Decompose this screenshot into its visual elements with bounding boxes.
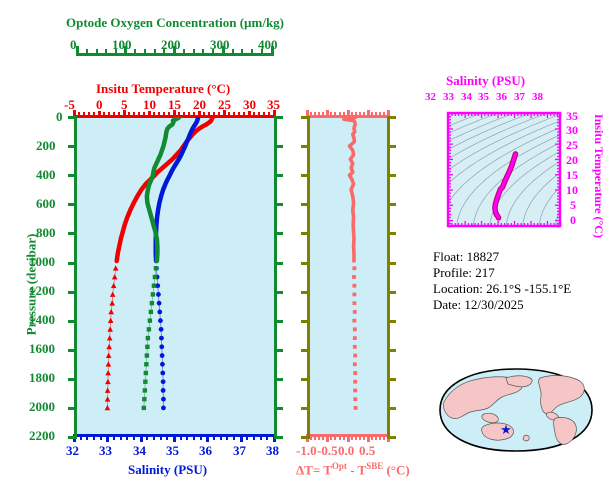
temperature-axis-title: Insitu Temperature (°C) [96, 82, 230, 95]
metadata-location-label: Location: [433, 281, 483, 296]
delta-t-marker [354, 406, 358, 410]
metadata-location-value: 26.1°S -155.1°E [486, 281, 571, 296]
delta-t-marker [352, 275, 356, 279]
ts-temp-tick-10: 10 [566, 184, 578, 196]
ts-salinity-title: Salinity (PSU) [446, 74, 525, 87]
delta-t-marker [353, 345, 357, 349]
pressure-tick-2000: 2000 [29, 400, 55, 413]
pressure-tick-800: 800 [36, 226, 56, 239]
metadata-location-row: Location: 26.1°S -155.1°E [433, 281, 571, 297]
delta-t-tick-0.5: 0.5 [359, 444, 375, 457]
map-land-new-zealand [523, 435, 529, 441]
delta-t-line [344, 117, 355, 261]
delta-t-title-part2: - T [347, 462, 366, 477]
pressure-tick-600: 600 [36, 197, 56, 210]
salinity-axis-title: Salinity (PSU) [128, 463, 207, 476]
ts-salinity-tick-34: 34 [461, 92, 472, 103]
salinity-tick-32: 32 [66, 444, 79, 457]
delta-t-tick--1.0: -1.0 [296, 444, 317, 457]
metadata-date-row: Date: 12/30/2025 [433, 297, 571, 313]
delta-t-marker [353, 362, 357, 366]
ts-temp-tick-25: 25 [566, 139, 578, 151]
salinity-tick-36: 36 [199, 444, 212, 457]
delta-t-title-unit: (°C) [383, 462, 410, 477]
ts-salinity-tick-33: 33 [443, 92, 454, 103]
delta-t-marker [353, 380, 357, 384]
world-map-inset: ★ [428, 358, 604, 463]
salinity-tick-33: 33 [99, 444, 112, 457]
delta-t-title-part1: ΔT= T [296, 462, 332, 477]
delta-t-marker [352, 293, 356, 297]
oxygen-tick-400: 400 [258, 38, 278, 51]
map-float-marker: ★ [500, 423, 512, 438]
ts-temp-tick-20: 20 [566, 154, 578, 166]
ts-diagram [445, 110, 565, 232]
ts-temp-tick-0: 0 [570, 214, 576, 226]
metadata-float-label: Float: [433, 249, 463, 264]
salinity-tick-38: 38 [266, 444, 279, 457]
metadata-profile-row: Profile: 217 [433, 265, 571, 281]
delta-t-marker [353, 336, 357, 340]
ts-salinity-tick-38: 38 [532, 92, 543, 103]
pressure-tick-400: 400 [36, 168, 56, 181]
delta-t-marker [352, 301, 356, 305]
delta-t-marker [353, 397, 357, 401]
pressure-tick-1800: 1800 [29, 371, 55, 384]
profile-curves [74, 117, 275, 437]
metadata-date-label: Date: [433, 297, 461, 312]
ts-background [448, 113, 560, 226]
metadata-float-value: 18827 [467, 249, 500, 264]
delta-t-marker [353, 371, 357, 375]
ts-salinity-tick-36: 36 [496, 92, 507, 103]
ts-salinity-tick-37: 37 [514, 92, 525, 103]
ts-salinity-tick-35: 35 [478, 92, 489, 103]
delta-t-tick-0.0: 0.0 [338, 444, 354, 457]
salinity-tick-37: 37 [233, 444, 246, 457]
ts-temp-tick-15: 15 [566, 169, 578, 181]
delta-t-marker [353, 327, 357, 331]
oxygen-axis-title: Optode Oxygen Concentration (µm/kg) [66, 16, 284, 29]
delta-t-title-sup-opt: Opt [332, 461, 347, 471]
metadata-profile-value: 217 [475, 265, 495, 280]
delta-t-curve [307, 117, 388, 437]
ts-temp-tick-5: 5 [570, 199, 576, 211]
delta-t-marker [352, 319, 356, 323]
delta-t-marker [353, 354, 357, 358]
ts-temp-tick-35: 35 [566, 110, 578, 122]
ts-temp-tick-30: 30 [566, 124, 578, 136]
delta-t-marker [353, 310, 357, 314]
pressure-axis-title: Pressure (decibar) [25, 215, 38, 355]
metadata-date-value: 12/30/2025 [464, 297, 523, 312]
pressure-tick-2200: 2200 [29, 429, 55, 442]
delta-t-title-sup-sbe: SBE [366, 461, 383, 471]
pressure-tick-200: 200 [36, 139, 56, 152]
pressure-tick-0: 0 [56, 110, 63, 123]
ts-salinity-tick-32: 32 [425, 92, 436, 103]
metadata-float-row: Float: 18827 [433, 249, 571, 265]
metadata-profile-label: Profile: [433, 265, 472, 280]
salinity-tick-35: 35 [166, 444, 179, 457]
delta-t-marker [352, 266, 356, 270]
metadata-block: Float: 18827 Profile: 217 Location: 26.1… [433, 249, 571, 313]
delta-t-marker [352, 284, 356, 288]
delta-t-tick--0.5: -0.5 [317, 444, 338, 457]
oxygen-tick-100: 100 [112, 38, 132, 51]
oxygen-tick-300: 300 [210, 38, 230, 51]
delta-t-axis-title: ΔT= TOpt - TSBE (°C) [296, 462, 410, 476]
oxygen-tick-200: 200 [161, 38, 181, 51]
ts-temperature-title: Insitu Temperature (°C) [593, 101, 605, 251]
salinity-tick-34: 34 [133, 444, 146, 457]
oxygen-tick-0: 0 [70, 38, 77, 51]
delta-t-marker [353, 389, 357, 393]
